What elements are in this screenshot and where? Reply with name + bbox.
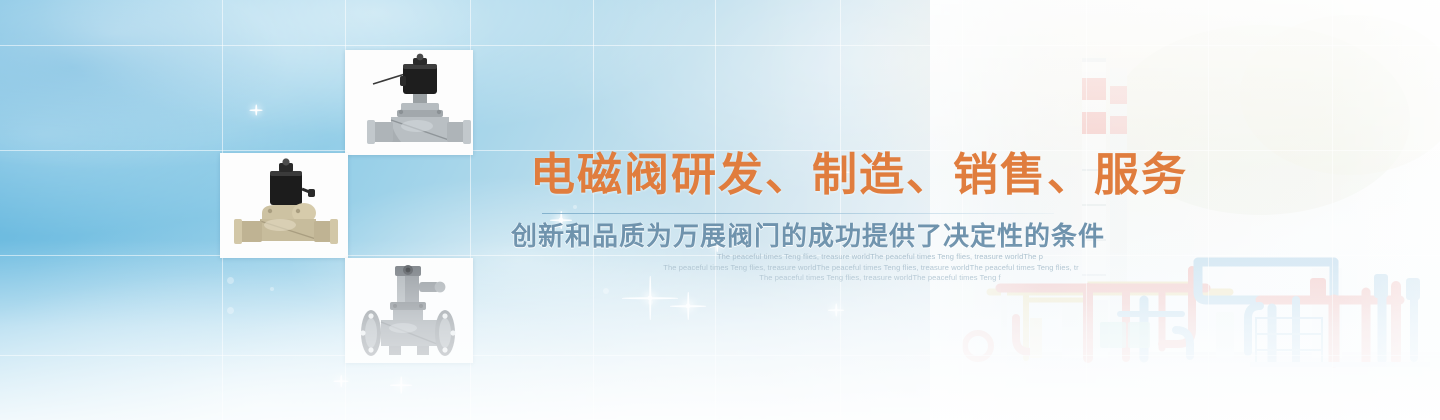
title-divider (542, 213, 1054, 214)
bottom-fog-overlay (0, 240, 1440, 420)
page-title: 电磁阀研发、制造、销售、服务 (530, 152, 1188, 197)
hero-banner: 电磁阀研发、制造、销售、服务 创新和品质为万展阀门的成功提供了决定性的条件 Th… (0, 0, 1440, 420)
product-image-solenoid-valve-threaded-top[interactable] (345, 50, 473, 155)
